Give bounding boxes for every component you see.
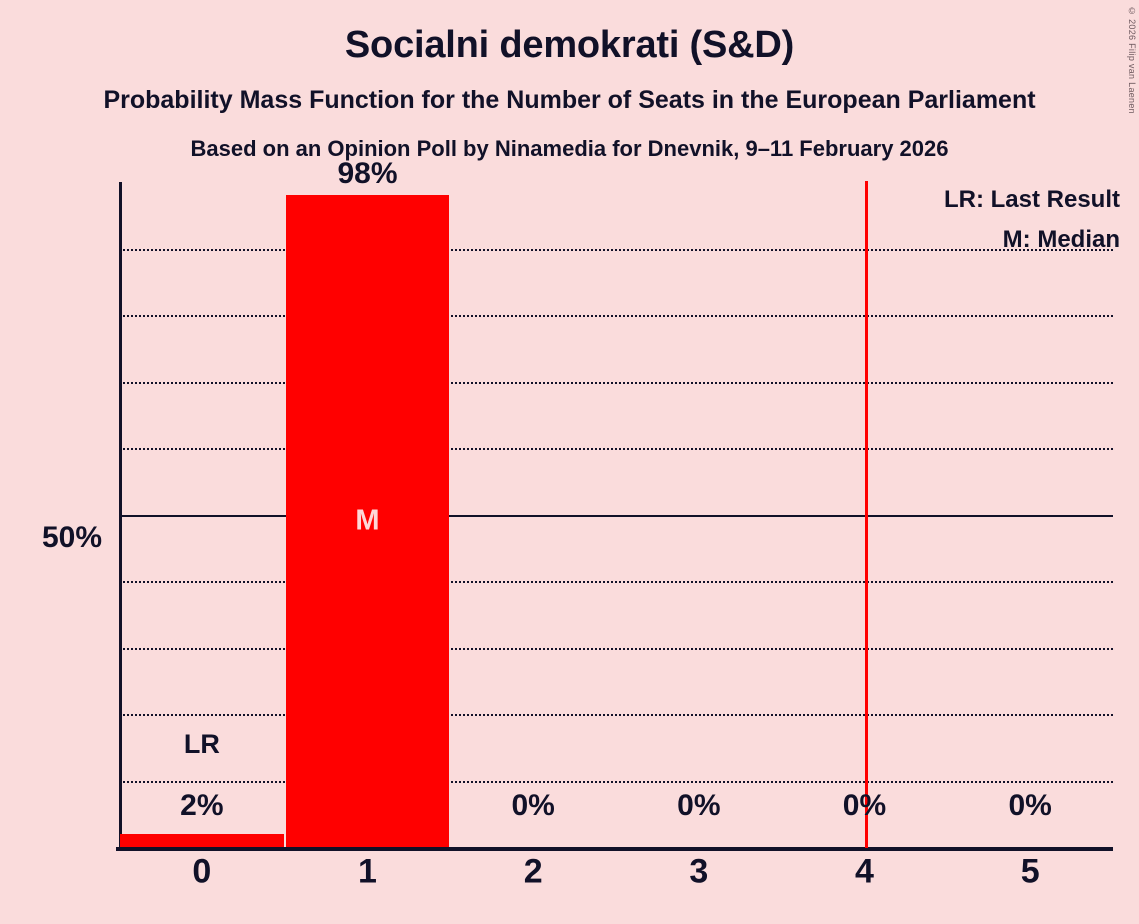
gridline-10 [119, 781, 1113, 783]
x-axis-tick-4: 4 [782, 853, 948, 892]
value-label-seat-2: 0% [450, 789, 616, 823]
value-label-seat-5: 0% [947, 789, 1113, 823]
value-label-seat-4: 0% [782, 789, 948, 823]
page-title: Socialni demokrati (S&D) [0, 24, 1139, 67]
gridline-40 [119, 581, 1113, 583]
x-axis-tick-3: 3 [616, 853, 782, 892]
copyright-notice: © 2026 Filip van Laenen [1127, 6, 1137, 114]
x-axis-tick-2: 2 [450, 853, 616, 892]
gridline-70 [119, 382, 1113, 384]
x-axis-tick-1: 1 [285, 853, 451, 892]
last-result-marker-line [865, 181, 868, 848]
value-label-seat-3: 0% [616, 789, 782, 823]
value-label-seat-1: 98% [285, 157, 451, 191]
gridline-60 [119, 448, 1113, 450]
y-axis-tick-50: 50% [0, 521, 102, 555]
gridline-30 [119, 648, 1113, 650]
chart-source-note: Based on an Opinion Poll by Ninamedia fo… [0, 136, 1139, 162]
gridline-50 [119, 515, 1113, 517]
x-axis-line [116, 847, 1113, 851]
bar-seat-0[interactable] [120, 834, 284, 847]
bar-seat-1[interactable]: M [286, 195, 450, 847]
gridline-80 [119, 315, 1113, 317]
last-result-marker: LR [119, 729, 285, 760]
x-axis-tick-5: 5 [947, 853, 1113, 892]
median-marker: M [286, 505, 450, 538]
value-label-seat-0: 2% [119, 789, 285, 823]
gridline-20 [119, 714, 1113, 716]
gridline-90 [119, 249, 1113, 251]
x-axis-tick-0: 0 [119, 853, 285, 892]
chart-canvas: Socialni demokrati (S&D) Probability Mas… [0, 0, 1139, 924]
chart-subtitle: Probability Mass Function for the Number… [0, 86, 1139, 115]
